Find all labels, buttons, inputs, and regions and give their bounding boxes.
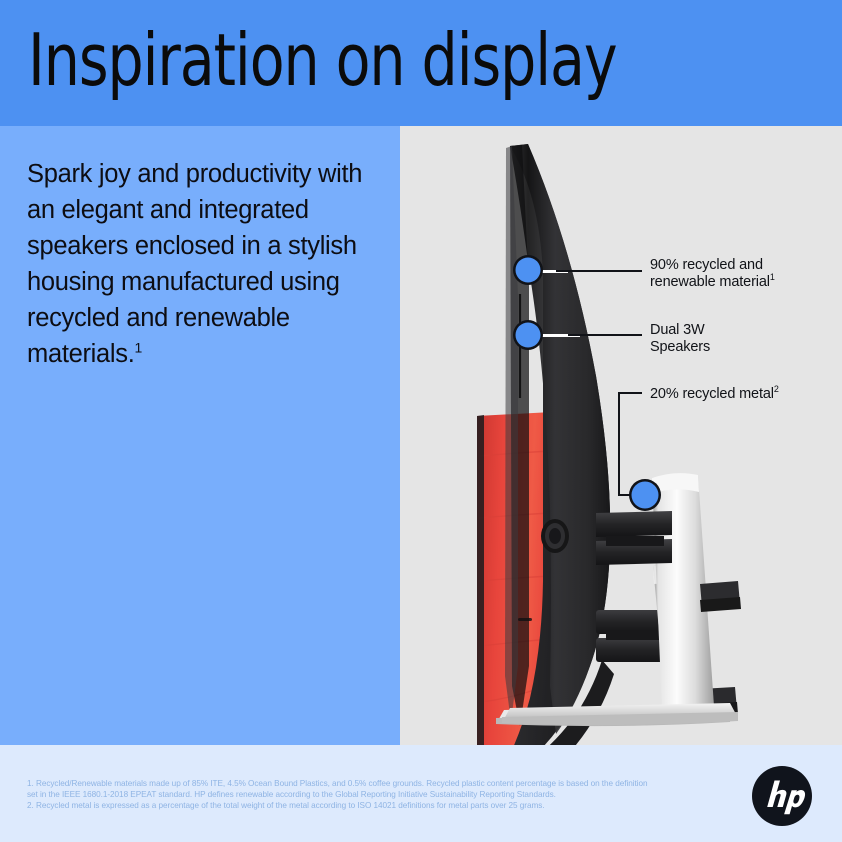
footer-band: 1. Recycled/Renewable materials made up … xyxy=(0,745,842,842)
body-copy-footnote-marker: 1 xyxy=(135,340,143,356)
leader-line-3-horizontal xyxy=(618,392,642,394)
leader-line-3-vertical xyxy=(618,392,620,496)
body-copy: Spark joy and productivity with an elega… xyxy=(27,156,372,372)
page-title: Inspiration on display xyxy=(28,20,617,100)
monitor-arm-overlay xyxy=(400,126,842,745)
callout-2-line2: Speakers xyxy=(650,339,710,355)
callout-recycled-material: 90% recycled andrenewable material1 xyxy=(650,257,775,291)
callout-2-line1: Dual 3W xyxy=(650,322,705,338)
hp-logo-icon xyxy=(752,766,812,826)
callout-recycled-metal: 20% recycled metal2 xyxy=(650,386,779,403)
leader-line-3-foot xyxy=(618,494,644,496)
footnote-line-2: set in the IEEE 1680.1-2018 EPEAT standa… xyxy=(27,789,717,800)
footnote-line-3: 2. Recycled metal is expressed as a perc… xyxy=(27,800,717,811)
callout-speakers: Dual 3WSpeakers xyxy=(650,322,710,356)
copy-panel: Spark joy and productivity with an elega… xyxy=(0,126,400,745)
callout-3-line1: 20% recycled metal xyxy=(650,386,774,402)
body-copy-text: Spark joy and productivity with an elega… xyxy=(27,160,362,368)
callout-3-footnote-marker: 2 xyxy=(774,384,779,394)
marketing-infographic: Inspiration on display Spark joy and pro… xyxy=(0,0,842,842)
callout-1-footnote-marker: 1 xyxy=(770,272,775,282)
hp-logo xyxy=(752,766,812,826)
header-band: Inspiration on display xyxy=(0,0,842,126)
callout-1-line1: 90% recycled and xyxy=(650,257,763,273)
callout-1-line2: renewable material xyxy=(650,274,770,290)
leader-line-1 xyxy=(556,270,642,272)
footnote-line-1: 1. Recycled/Renewable materials made up … xyxy=(27,778,717,789)
leader-line-2 xyxy=(568,334,642,336)
product-panel xyxy=(400,126,842,745)
footnotes: 1. Recycled/Renewable materials made up … xyxy=(27,778,717,812)
